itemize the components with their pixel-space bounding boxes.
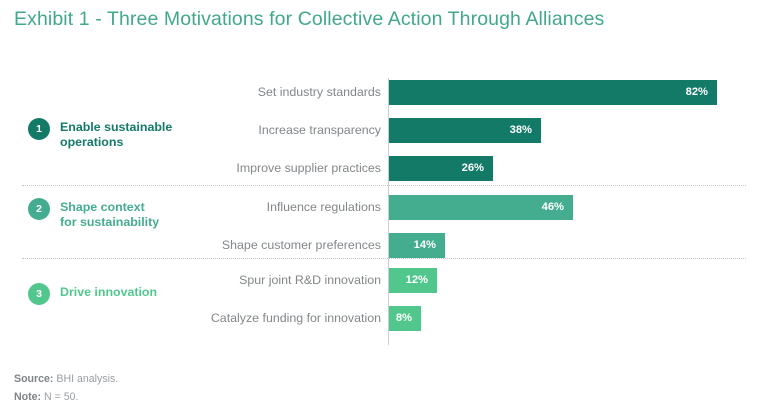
chart-plot-area: 1 Enable sustainable operations 2 Shape … [0,70,768,345]
bar-category-label: Spur joint R&D innovation [239,268,381,293]
bar-category-label: Shape customer preferences [222,233,381,258]
bar-row: Spur joint R&D innovation 12% [0,268,768,293]
bar-value-label: 8% [396,306,412,331]
bar-row: Shape customer preferences 14% [0,233,768,258]
page-title: Exhibit 1 - Three Motivations for Collec… [14,8,604,31]
source-note-key: Source: [14,373,53,385]
bar-rect[interactable]: 14% [389,233,445,258]
bar-category-label: Catalyze funding for innovation [211,306,381,331]
source-note: Source: BHI analysis. [14,370,118,388]
bar-category-label: Set industry standards [258,80,381,105]
bar-rect[interactable]: 26% [389,156,493,181]
bar-row: Improve supplier practices 26% [0,156,768,181]
bar-value-label: 14% [414,233,436,258]
bar-rect[interactable]: 8% [389,306,421,331]
bar-row: Influence regulations 46% [0,195,768,220]
bar-category-label: Influence regulations [267,195,381,220]
bar-rect[interactable]: 38% [389,118,541,143]
bar-value-label: 26% [462,156,484,181]
sample-note-key: Note: [14,391,41,403]
bar-value-label: 38% [510,118,532,143]
source-note-text: BHI analysis. [53,373,118,385]
footnotes: Source: BHI analysis. Note: N = 50. [14,370,118,406]
group-divider-1 [22,185,746,186]
group-divider-2 [22,258,746,259]
bar-value-label: 82% [686,80,708,105]
bar-value-label: 12% [406,268,428,293]
sample-note-text: N = 50. [41,391,78,403]
bar-row: Catalyze funding for innovation 8% [0,306,768,331]
bar-row: Set industry standards 82% [0,80,768,105]
bar-category-label: Increase transparency [258,118,381,143]
bar-category-label: Improve supplier practices [236,156,381,181]
bar-rect[interactable]: 12% [389,268,437,293]
bar-row: Increase transparency 38% [0,118,768,143]
bar-value-label: 46% [542,195,564,220]
bar-rect[interactable]: 82% [389,80,717,105]
sample-note: Note: N = 50. [14,388,118,406]
bar-rect[interactable]: 46% [389,195,573,220]
